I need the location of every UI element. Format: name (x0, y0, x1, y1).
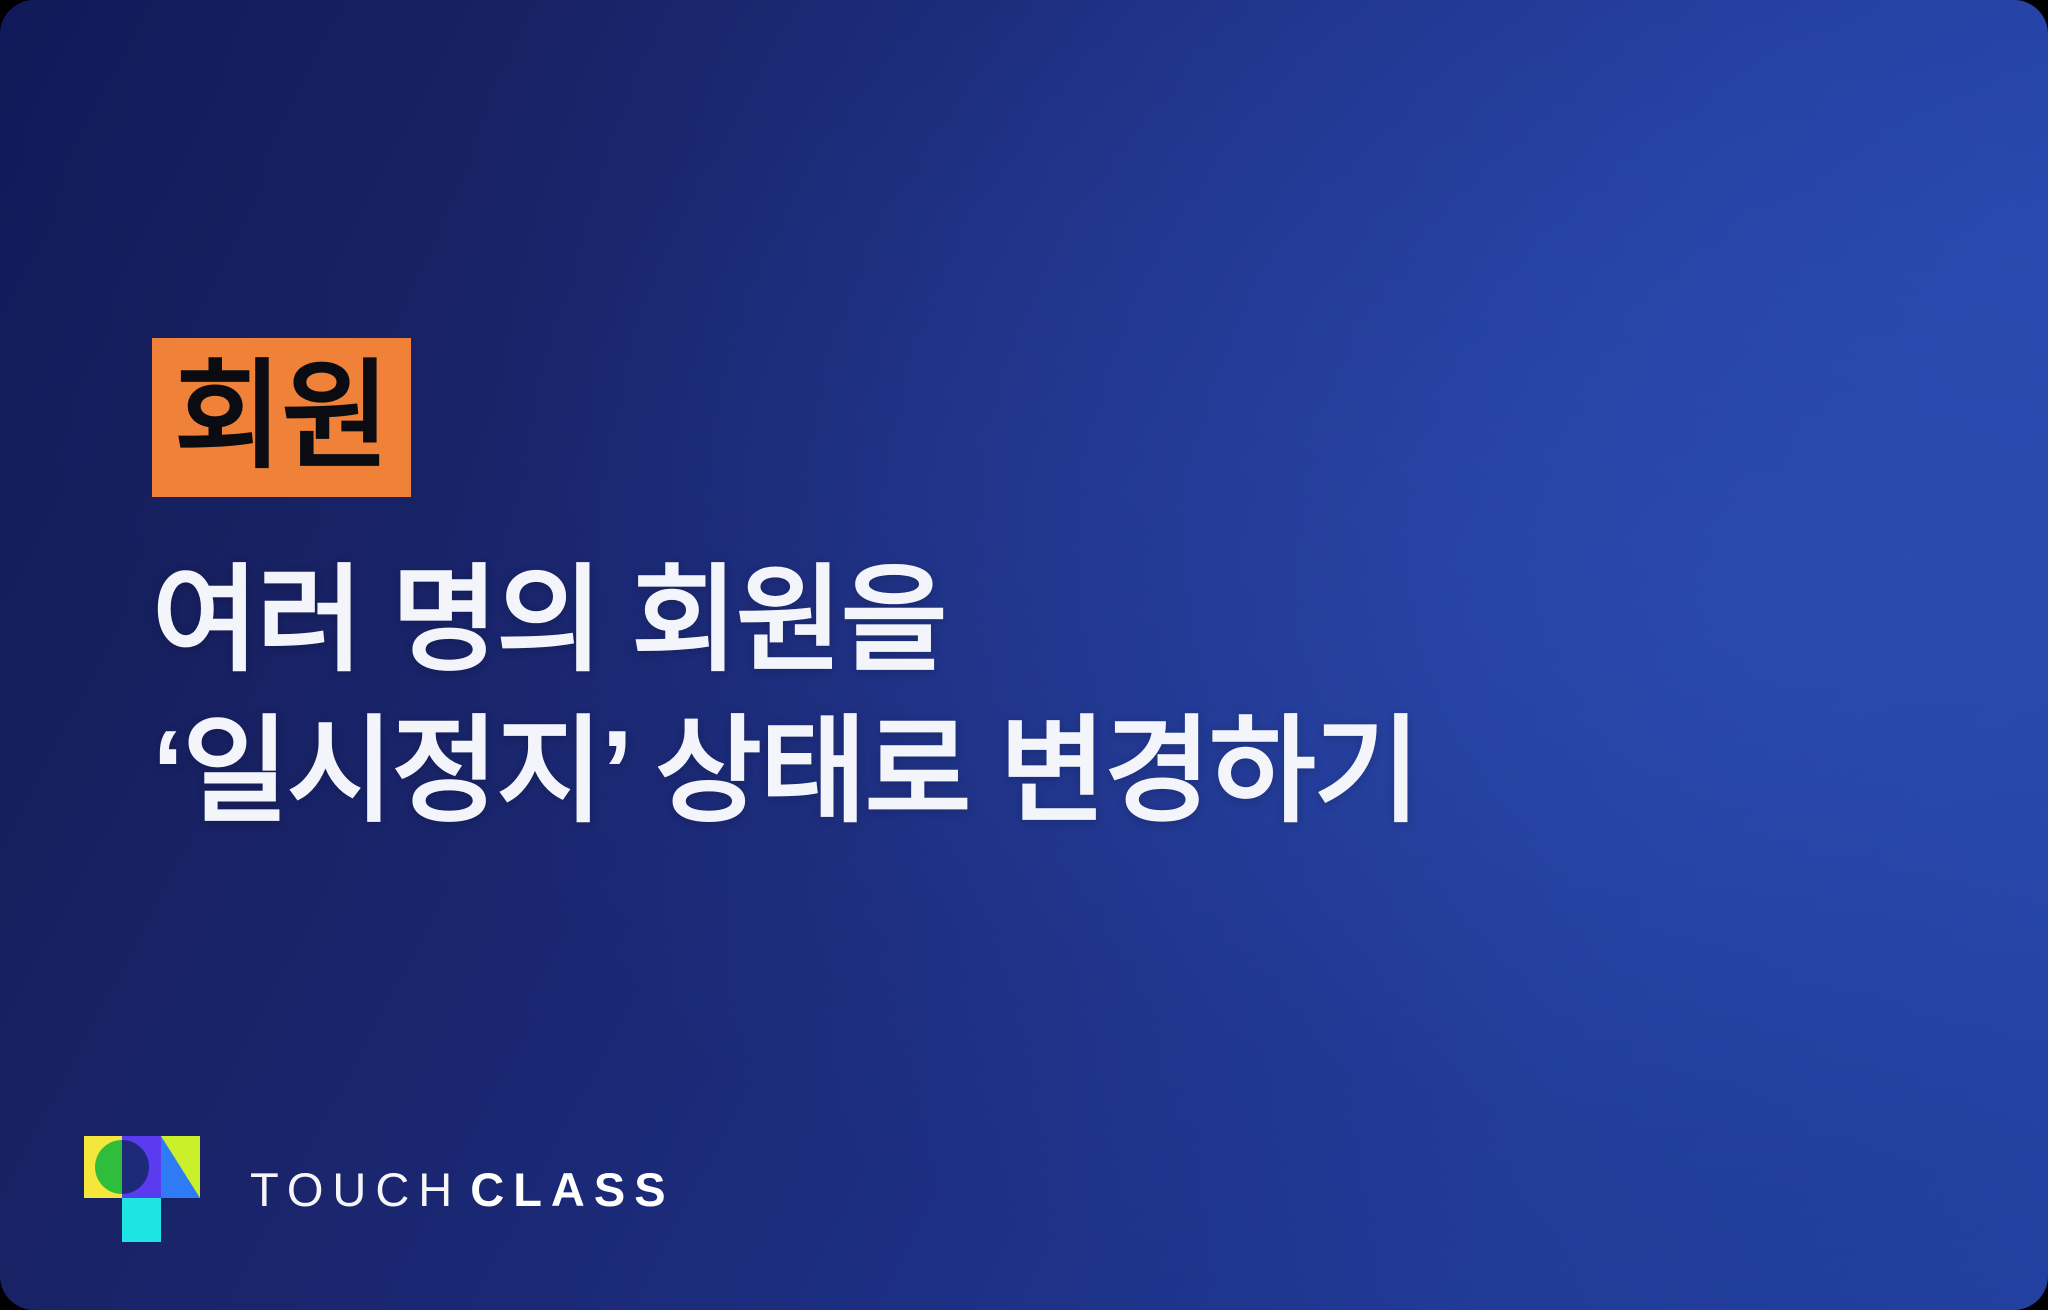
page-title-line-2: ‘일시정지’ 상태로 변경하기 (152, 696, 1418, 847)
brand-wordmark-touch: TOUCH (250, 1166, 461, 1213)
brand-wordmark-class: CLASS (470, 1166, 674, 1213)
category-badge: 회원 (152, 338, 411, 497)
brand-wordmark: TOUCH CLASS (250, 1166, 675, 1213)
slide-canvas: 회원 여러 명의 회원을 ‘일시정지’ 상태로 변경하기 (0, 0, 2048, 1310)
touchclass-logo-mark-icon (84, 1136, 200, 1242)
slide-content: 회원 여러 명의 회원을 ‘일시정지’ 상태로 변경하기 (152, 338, 1418, 847)
page-title-line-1: 여러 명의 회원을 (152, 545, 1418, 696)
brand-logo: TOUCH CLASS (84, 1136, 675, 1242)
page-title: 여러 명의 회원을 ‘일시정지’ 상태로 변경하기 (152, 545, 1418, 847)
